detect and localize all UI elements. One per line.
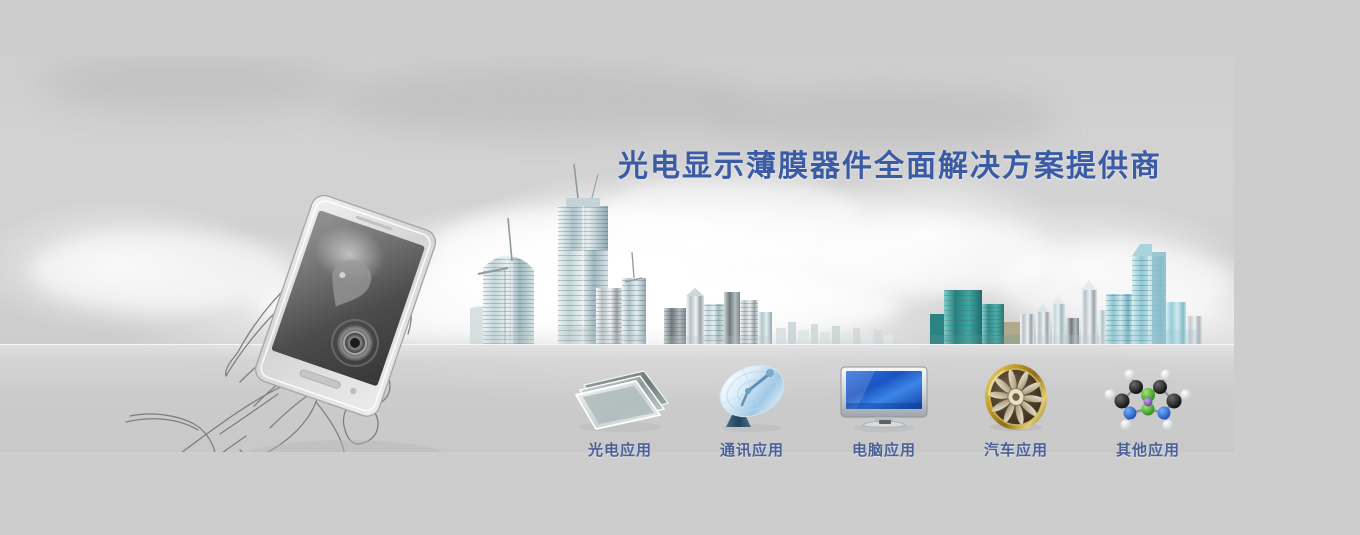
alloy-car-wheel-icon (961, 361, 1071, 433)
app-label: 汽车应用 (984, 439, 1048, 460)
glass-film-panels-icon (565, 361, 675, 433)
molecule-model-icon (1093, 361, 1203, 433)
app-label: 光电应用 (588, 439, 652, 460)
satellite-dish-icon (697, 361, 807, 433)
app-item-computer[interactable]: 电脑应用 (824, 361, 944, 460)
app-item-optoelectronic[interactable]: 光电应用 (560, 361, 680, 460)
app-item-automotive[interactable]: 汽车应用 (956, 361, 1076, 460)
app-label: 其他应用 (1116, 439, 1180, 460)
app-label: 电脑应用 (852, 439, 916, 460)
app-item-other[interactable]: 其他应用 (1088, 361, 1208, 460)
app-label: 通讯应用 (720, 439, 784, 460)
lcd-monitor-icon (829, 361, 939, 433)
application-icon-strip: 光电应用 (560, 352, 1208, 460)
app-item-communications[interactable]: 通讯应用 (692, 361, 812, 460)
hero-banner: 光电显示薄膜器件全面解决方案提供商 (0, 0, 1360, 535)
page-title: 光电显示薄膜器件全面解决方案提供商 (618, 141, 1162, 185)
horizon-line (0, 344, 1234, 345)
